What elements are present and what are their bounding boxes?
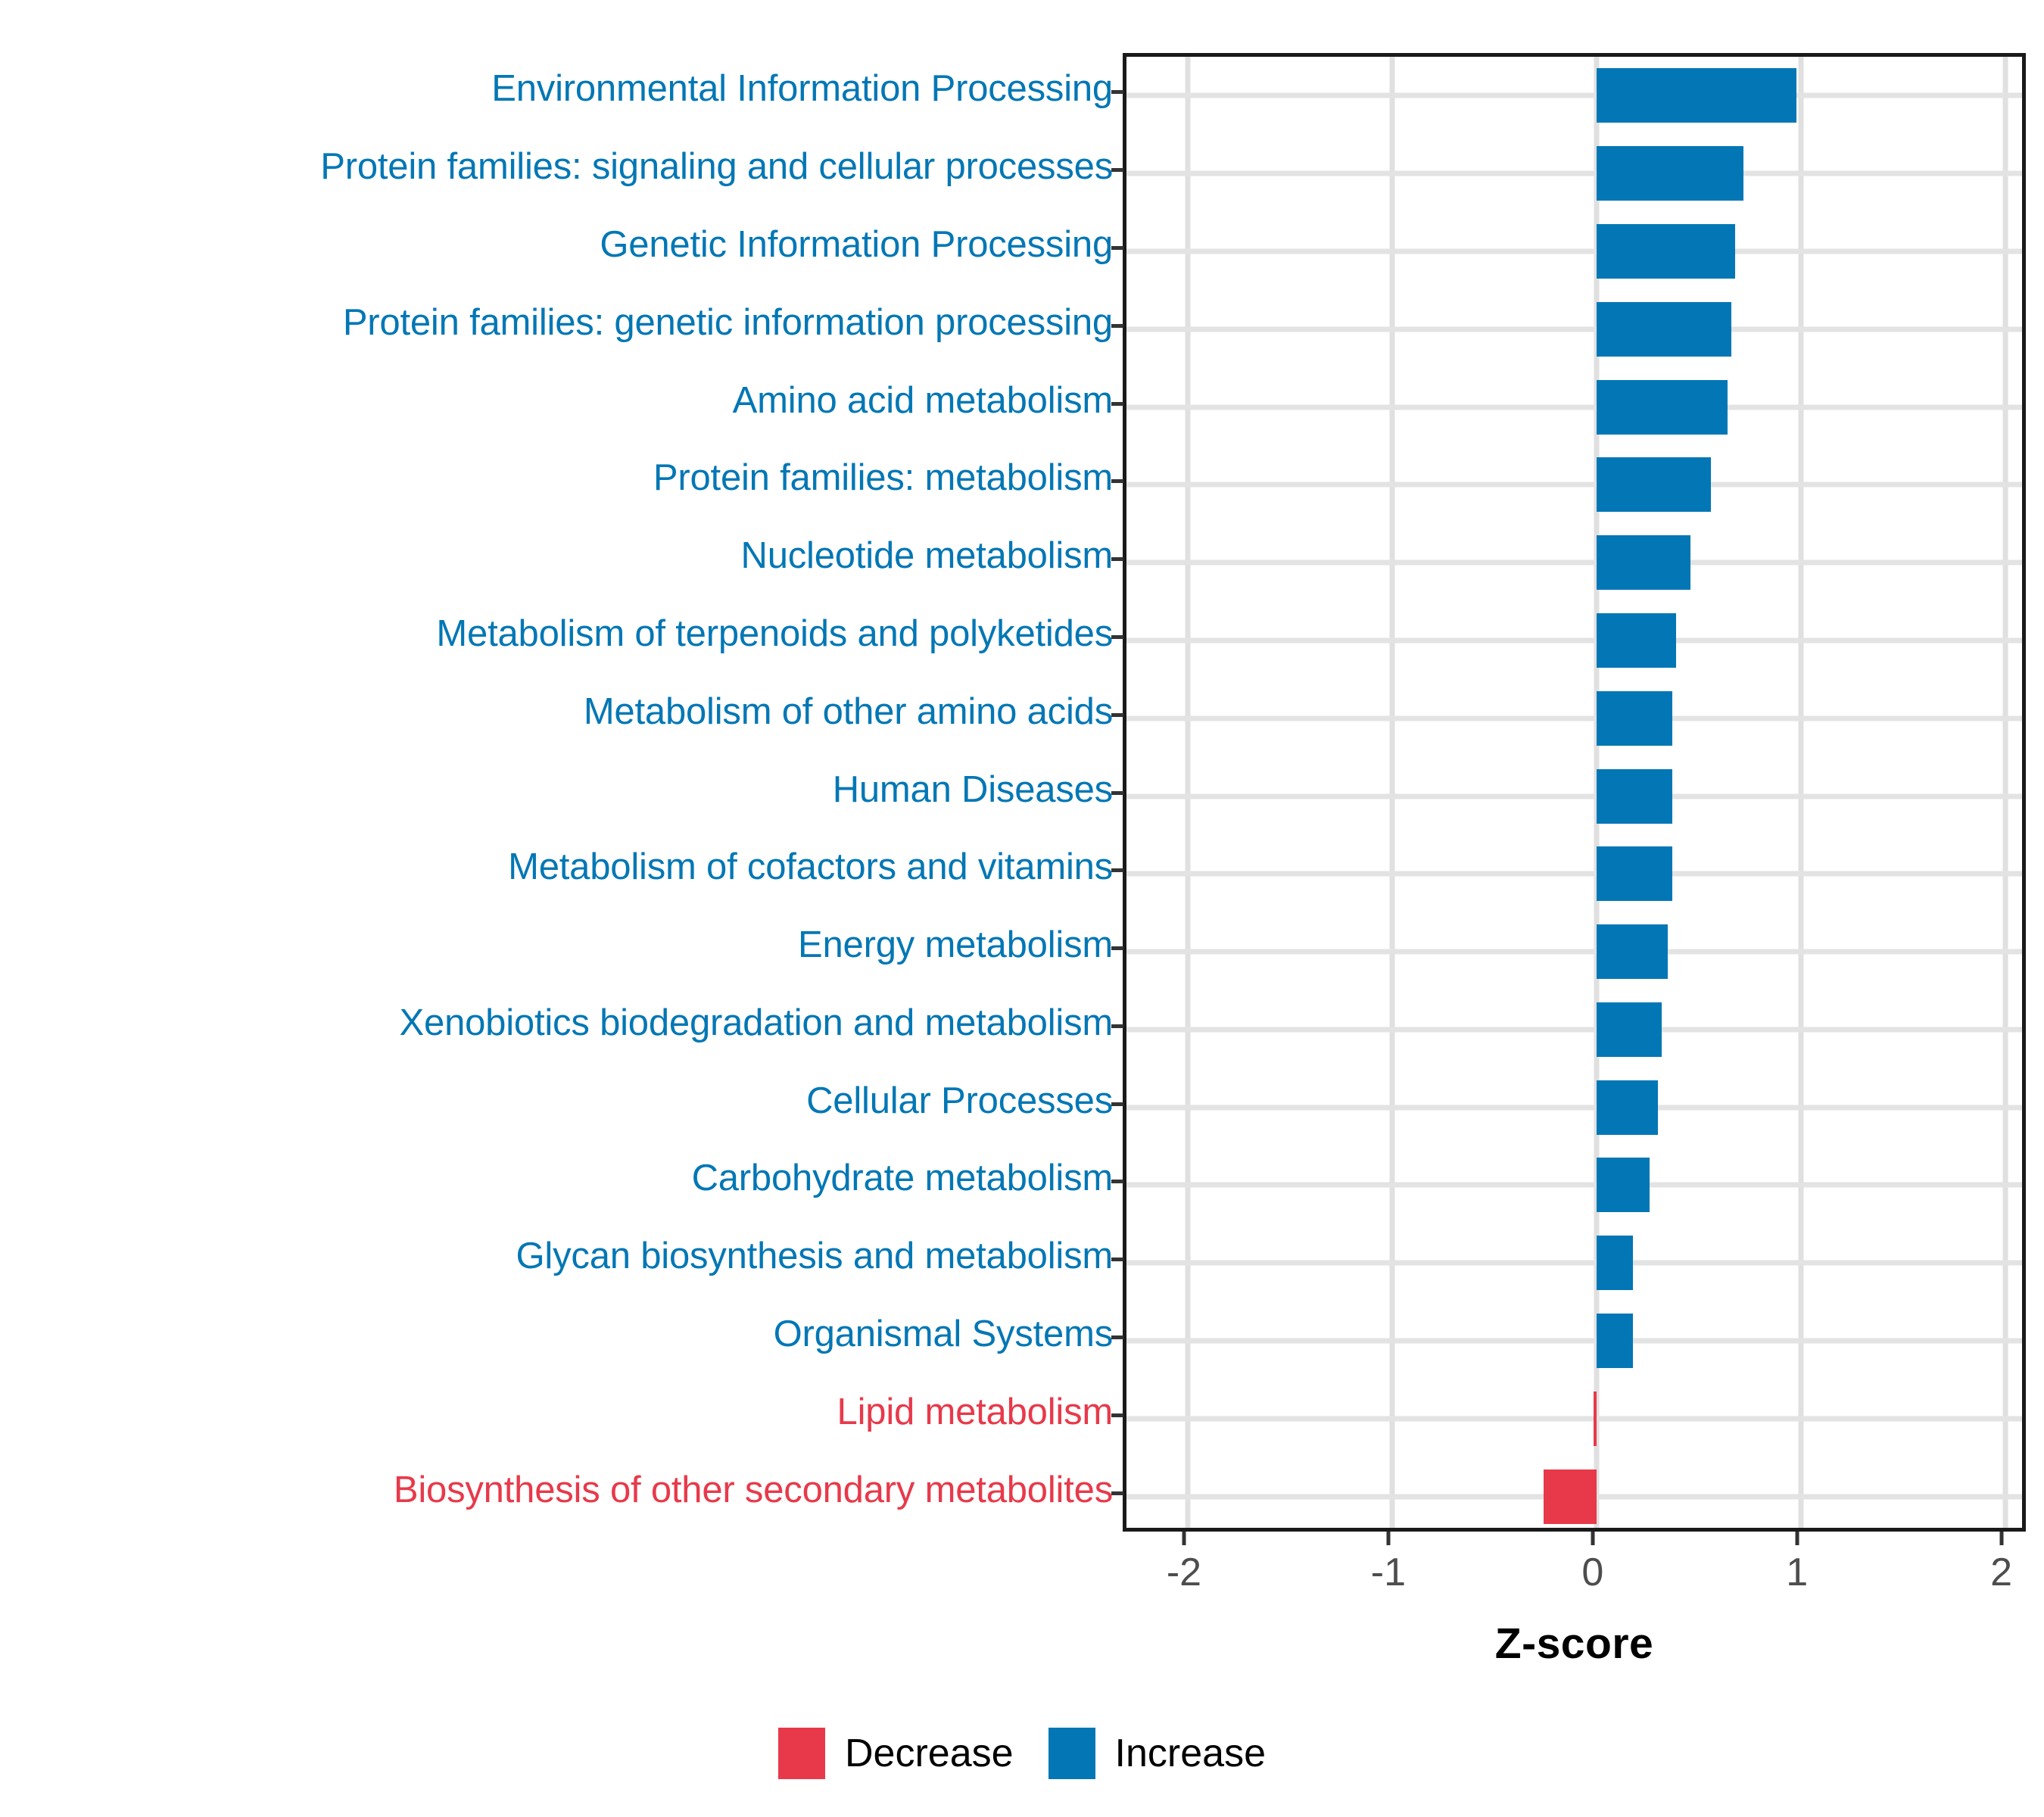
bar: [1597, 224, 1736, 279]
y-axis-tick-mark: [1111, 946, 1123, 950]
bar: [1597, 846, 1672, 901]
y-axis-tick-label-text: Environmental Information Processing: [491, 70, 1113, 108]
bar: [1597, 302, 1731, 357]
y-axis-tick-label-text: Biosynthesis of other secondary metaboli…: [394, 1472, 1113, 1509]
bar: [1597, 1080, 1658, 1135]
bar: [1544, 1469, 1597, 1524]
y-axis-tick-mark: [1111, 479, 1123, 483]
bar: [1597, 457, 1711, 512]
horizontal-gridline: [1126, 871, 2022, 877]
plot-panel: [1123, 53, 2026, 1532]
x-axis-tick-label: -1: [1371, 1550, 1406, 1595]
y-axis-tick-label: Human Diseases: [0, 771, 1113, 809]
bar: [1597, 691, 1672, 746]
vertical-gridline: [1798, 57, 1803, 1528]
y-axis-tick-mark: [1111, 635, 1123, 639]
bar: [1594, 1392, 1597, 1446]
horizontal-gridline: [1126, 404, 2022, 410]
legend-label: Increase: [1115, 1731, 1266, 1776]
vertical-gridline: [1389, 57, 1394, 1528]
horizontal-gridline: [1126, 326, 2022, 332]
y-axis-tick-mark: [1111, 1258, 1123, 1261]
x-axis-tick-label: -2: [1167, 1550, 1201, 1595]
y-axis-tick-label: Glycan biosynthesis and metabolism: [0, 1238, 1113, 1275]
y-axis-tick-label: Carbohydrate metabolism: [0, 1160, 1113, 1197]
bar: [1597, 380, 1728, 435]
bar: [1597, 1236, 1634, 1290]
legend-item[interactable]: Decrease: [778, 1728, 1014, 1779]
y-axis-tick-label-text: Metabolism of cofactors and vitamins: [508, 849, 1113, 886]
y-axis-tick-label-text: Nucleotide metabolism: [741, 538, 1113, 575]
y-axis-tick-label: Organismal Systems: [0, 1316, 1113, 1353]
bar: [1597, 146, 1743, 201]
y-axis-tick-label: Genetic Information Processing: [0, 226, 1113, 263]
y-axis-tick-mark: [1111, 713, 1123, 717]
y-axis-tick-label: Protein families: metabolism: [0, 460, 1113, 497]
legend: DecreaseIncrease: [0, 1728, 2044, 1779]
y-axis-tick-label-text: Organismal Systems: [774, 1316, 1113, 1353]
y-axis-tick-mark: [1111, 324, 1123, 328]
y-axis-tick-mark: [1111, 1180, 1123, 1183]
y-axis-tick-label: Nucleotide metabolism: [0, 538, 1113, 575]
y-axis-tick-mark: [1111, 1102, 1123, 1106]
horizontal-gridline: [1126, 171, 2022, 176]
horizontal-gridline: [1126, 793, 2022, 799]
y-axis-tick-label: Metabolism of terpenoids and polyketides: [0, 616, 1113, 653]
y-axis-tick-label-text: Metabolism of other amino acids: [584, 693, 1113, 731]
y-axis-tick-label: Amino acid metabolism: [0, 382, 1113, 419]
y-axis-tick-mark: [1111, 168, 1123, 172]
y-axis-tick-label: Biosynthesis of other secondary metaboli…: [0, 1472, 1113, 1509]
x-axis: -2-1012: [1123, 1532, 2026, 1622]
x-axis-tick-label: 2: [1990, 1550, 2012, 1595]
y-axis-tick-label-text: Protein families: signaling and cellular…: [320, 148, 1113, 185]
bar: [1597, 1314, 1634, 1368]
bar: [1597, 1158, 1650, 1212]
y-axis-tick-mark: [1111, 90, 1123, 94]
chart-figure: Environmental Information ProcessingProt…: [0, 0, 2044, 1817]
y-axis-tick-label: Protein families: signaling and cellular…: [0, 148, 1113, 185]
horizontal-gridline: [1126, 248, 2022, 254]
y-axis-tick-label: Cellular Processes: [0, 1083, 1113, 1120]
bar: [1597, 68, 1797, 123]
bar: [1597, 535, 1690, 590]
y-axis-tick-mark: [1111, 1335, 1123, 1339]
bar: [1597, 924, 1668, 979]
horizontal-gridline: [1126, 482, 2022, 488]
vertical-gridline: [1185, 57, 1190, 1528]
y-axis-tick-label: Metabolism of other amino acids: [0, 693, 1113, 731]
y-axis-tick-label: Xenobiotics biodegradation and metabolis…: [0, 1005, 1113, 1042]
horizontal-gridline: [1126, 715, 2022, 721]
y-axis-tick-label-text: Human Diseases: [833, 771, 1113, 809]
horizontal-gridline: [1126, 1339, 2022, 1344]
x-axis-title: Z-score: [1123, 1619, 2026, 1669]
y-axis-tick-mark: [1111, 1491, 1123, 1495]
x-axis-tick-label: 0: [1581, 1550, 1603, 1595]
horizontal-gridline: [1126, 1416, 2022, 1421]
y-axis-tick-mark: [1111, 791, 1123, 795]
x-axis-tick-label: 1: [1786, 1550, 1808, 1595]
y-axis-tick-mark: [1111, 1413, 1123, 1417]
y-axis-tick-label: Lipid metabolism: [0, 1394, 1113, 1431]
y-axis-tick-label-text: Genetic Information Processing: [600, 226, 1113, 263]
y-axis-tick-label: Energy metabolism: [0, 927, 1113, 964]
x-axis-tick-mark: [1999, 1532, 2003, 1545]
y-axis-tick-label: Protein families: genetic information pr…: [0, 304, 1113, 341]
bar: [1597, 1002, 1662, 1057]
y-axis-tick-label-text: Metabolism of terpenoids and polyketides: [436, 616, 1113, 653]
legend-label: Decrease: [845, 1731, 1014, 1776]
y-axis-tick-label-text: Protein families: genetic information pr…: [343, 304, 1113, 341]
y-axis-tick-label-text: Carbohydrate metabolism: [692, 1160, 1113, 1197]
y-axis-tick-label-text: Glycan biosynthesis and metabolism: [516, 1238, 1113, 1275]
horizontal-gridline: [1126, 1183, 2022, 1188]
horizontal-gridline: [1126, 637, 2022, 643]
y-axis-tick-mark: [1111, 557, 1123, 561]
horizontal-gridline: [1126, 1261, 2022, 1266]
y-axis-tick-label: Environmental Information Processing: [0, 70, 1113, 108]
x-axis-tick-mark: [1182, 1532, 1186, 1545]
y-axis-tick-label: Metabolism of cofactors and vitamins: [0, 849, 1113, 886]
horizontal-gridline: [1126, 1105, 2022, 1110]
y-axis-tick-mark: [1111, 402, 1123, 406]
horizontal-gridline: [1126, 949, 2022, 955]
vertical-gridline: [2002, 57, 2008, 1528]
y-axis-tick-label-text: Cellular Processes: [806, 1083, 1113, 1120]
y-axis-tick-label-text: Energy metabolism: [798, 927, 1113, 964]
y-axis-tick-label-text: Lipid metabolism: [837, 1394, 1113, 1431]
x-axis-tick-mark: [1386, 1532, 1390, 1545]
legend-item[interactable]: Increase: [1048, 1728, 1266, 1779]
bar: [1597, 613, 1676, 668]
y-axis-labels: Environmental Information ProcessingProt…: [0, 53, 1113, 1532]
legend-swatch-decrease: [778, 1728, 825, 1779]
y-axis-tick-label-text: Amino acid metabolism: [733, 382, 1113, 419]
x-axis-tick-mark: [1795, 1532, 1799, 1545]
bar: [1597, 769, 1672, 824]
y-axis-tick-mark: [1111, 868, 1123, 872]
horizontal-gridline: [1126, 560, 2022, 566]
x-axis-tick-mark: [1591, 1532, 1594, 1545]
y-axis-tick-mark: [1111, 246, 1123, 250]
legend-swatch-increase: [1048, 1728, 1095, 1779]
y-axis-tick-mark: [1111, 1024, 1123, 1028]
y-axis-tick-label-text: Protein families: metabolism: [653, 460, 1113, 497]
y-axis-tick-label-text: Xenobiotics biodegradation and metabolis…: [400, 1005, 1113, 1042]
horizontal-gridline: [1126, 1027, 2022, 1032]
horizontal-gridline: [1126, 93, 2022, 98]
